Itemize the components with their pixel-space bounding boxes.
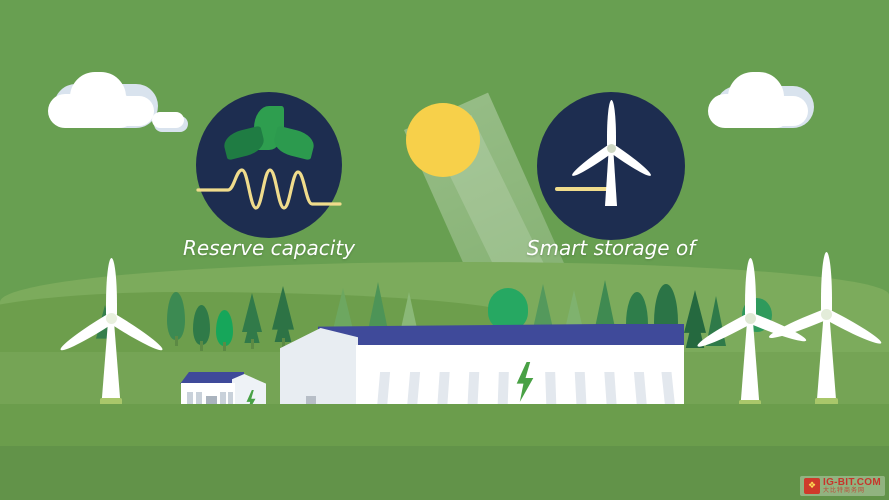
turbine-left	[62, 258, 172, 418]
badge-smart-storage[interactable]	[537, 92, 685, 240]
cloud-large-right	[708, 72, 812, 132]
badge-turbine-icon	[537, 92, 685, 240]
warehouse-roof	[318, 324, 684, 346]
leaf-left	[221, 126, 266, 161]
turbine-right-far	[778, 252, 889, 420]
leaf-right	[271, 126, 316, 161]
badge-reserve-capacity[interactable]	[196, 92, 342, 238]
sine-waveform-icon	[196, 164, 342, 212]
cloud-large-left	[48, 70, 156, 132]
ground-layer-3	[0, 446, 889, 500]
watermark-logo-icon: ❖	[804, 478, 820, 494]
watermark: ❖ IG-BIT.COM 大比特商务网	[800, 476, 885, 496]
illustration-canvas: Reserve capacity Smart storage of wind e…	[0, 0, 889, 500]
sun-icon	[406, 103, 480, 177]
watermark-subtitle: 大比特商务网	[823, 488, 881, 494]
cloud-small-left	[152, 112, 188, 132]
badge-reserve-capacity-label: Reserve capacity	[176, 236, 362, 261]
